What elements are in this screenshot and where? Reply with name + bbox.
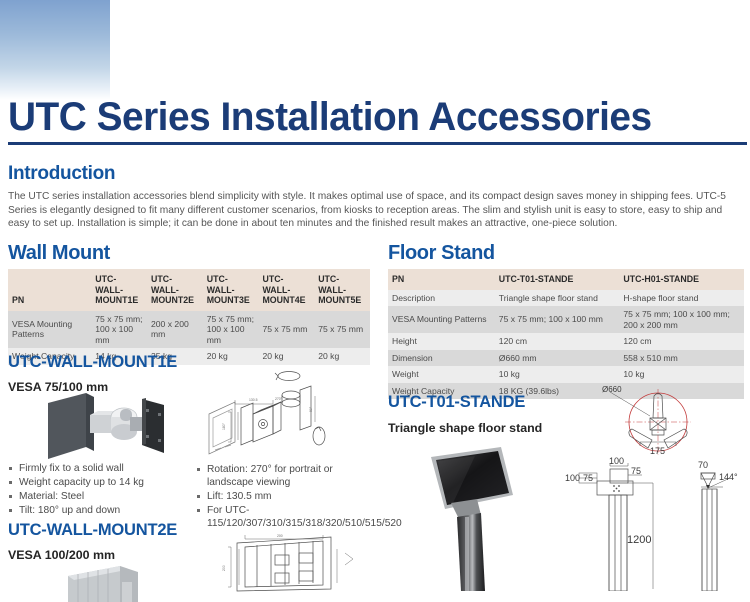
introduction-heading: Introduction bbox=[8, 163, 115, 185]
table-row: Dimension Ø660 mm 558 x 510 mm bbox=[388, 350, 744, 367]
table-cell: 75 x 75 mm; 100 x 100 mm; 200 x 200 mm bbox=[619, 306, 744, 333]
row-label: Dimension bbox=[388, 350, 495, 367]
table-header-cell: UTC-WALL-MOUNT2E bbox=[147, 269, 203, 311]
table-cell: Ø660 mm bbox=[495, 350, 620, 367]
table-header-row: PN UTC-WALL-MOUNT1E UTC-WALL-MOUNT2E UTC… bbox=[8, 269, 370, 311]
table-cell: 75 x 75 mm bbox=[314, 311, 370, 349]
wall-mount-table: PN UTC-WALL-MOUNT1E UTC-WALL-MOUNT2E UTC… bbox=[8, 269, 370, 365]
dimension-foot-width: 70 bbox=[698, 460, 708, 470]
table-cell: 10 kg bbox=[619, 366, 744, 383]
wall-mount-1e-bullets-left: Firmly fix to a solid wall Weight capaci… bbox=[8, 462, 183, 518]
list-item: Weight capacity up to 14 kg bbox=[8, 476, 183, 489]
floor-stand-section: Floor Stand PN UTC-T01-STANDE UTC-H01-ST… bbox=[388, 243, 744, 399]
product-photo-wall-mount-1e bbox=[42, 391, 170, 463]
technical-drawing-floor-stand-side-view: 100 75 100 75 1200 bbox=[565, 455, 685, 591]
table-cell: Triangle shape floor stand bbox=[495, 290, 620, 307]
svg-text:200: 200 bbox=[222, 565, 226, 571]
technical-drawing-wall-mount-2e: 200 200 bbox=[215, 533, 360, 593]
table-header-cell: UTC-H01-STANDE bbox=[619, 269, 744, 290]
table-cell: 558 x 510 mm bbox=[619, 350, 744, 367]
svg-text:200: 200 bbox=[277, 534, 283, 538]
list-item: Material: Steel bbox=[8, 490, 183, 503]
wall-mount-1e-bullets-right: Rotation: 270° for portrait or landscape… bbox=[196, 463, 376, 531]
product-heading-wall-mount-1e: UTC-WALL-MOUNT1E bbox=[8, 353, 177, 371]
row-label: VESA Mounting Patterns bbox=[8, 311, 91, 349]
list-item: Lift: 130.5 mm bbox=[196, 490, 376, 503]
table-row: Weight 10 kg 10 kg bbox=[388, 366, 744, 383]
wall-mount-heading: Wall Mount bbox=[8, 243, 370, 263]
dimension-top-a: 100 bbox=[609, 456, 624, 466]
floor-stand-heading: Floor Stand bbox=[388, 243, 744, 263]
table-cell: 120 cm bbox=[495, 333, 620, 350]
wall-mount-section: Wall Mount PN UTC-WALL-MOUNT1E UTC-WALL-… bbox=[8, 243, 370, 365]
technical-drawing-floor-stand-foot-detail: 70 144° bbox=[693, 455, 750, 591]
row-label: VESA Mounting Patterns bbox=[388, 306, 495, 333]
introduction-body: The UTC series installation accessories … bbox=[8, 190, 743, 231]
list-item: For UTC-115/120/307/310/315/318/320/510/… bbox=[196, 504, 376, 530]
list-item: Firmly fix to a solid wall bbox=[8, 462, 183, 475]
table-cell: 75 x 75 mm bbox=[258, 311, 314, 349]
table-cell: 75 x 75 mm; 100 x 100 mm bbox=[203, 311, 259, 349]
floor-stand-table: PN UTC-T01-STANDE UTC-H01-STANDE Descrip… bbox=[388, 269, 744, 399]
table-cell: 75 x 75 mm; 100 x 100 mm bbox=[495, 306, 620, 333]
product-subtitle-wall-mount-2e: VESA 100/200 mm bbox=[8, 548, 115, 562]
list-item: Rotation: 270° for portrait or landscape… bbox=[196, 463, 376, 489]
table-cell: 20 kg bbox=[314, 348, 370, 365]
row-label: Weight bbox=[388, 366, 495, 383]
table-header-cell: UTC-WALL-MOUNT3E bbox=[203, 269, 259, 311]
table-cell: 10 kg bbox=[495, 366, 620, 383]
dimension-side-a: 100 bbox=[565, 473, 580, 483]
page-title-block: UTC Series Installation Accessories bbox=[8, 96, 750, 145]
dimension-side-b: 75 bbox=[583, 473, 593, 483]
table-cell: 20 kg bbox=[258, 348, 314, 365]
product-heading-wall-mount-2e: UTC-WALL-MOUNT2E bbox=[8, 521, 177, 539]
table-cell: 20 kg bbox=[203, 348, 259, 365]
list-item: Tilt: 180° up and down bbox=[8, 504, 183, 517]
svg-text:270°: 270° bbox=[275, 397, 283, 401]
table-header-cell: PN bbox=[388, 269, 495, 290]
table-cell: H-shape floor stand bbox=[619, 290, 744, 307]
page-title: UTC Series Installation Accessories bbox=[8, 96, 728, 138]
table-cell: 200 x 200 mm bbox=[147, 311, 203, 349]
table-row: Height 120 cm 120 cm bbox=[388, 333, 744, 350]
table-header-cell: UTC-WALL-MOUNT5E bbox=[314, 269, 370, 311]
header-gradient-block bbox=[0, 0, 110, 100]
product-photo-wall-mount-2e bbox=[60, 562, 180, 602]
table-header-cell: UTC-WALL-MOUNT4E bbox=[258, 269, 314, 311]
product-photo-t01-stande bbox=[405, 443, 555, 591]
technical-drawing-floor-stand-top-view: Ø660 175 bbox=[600, 386, 710, 458]
table-cell: 120 cm bbox=[619, 333, 744, 350]
technical-drawing-wall-mount-1e: 130.5 270° 180° 90° bbox=[205, 368, 335, 460]
table-cell: 75 x 75 mm; 100 x 100 mm bbox=[91, 311, 147, 349]
table-header-cell: UTC-T01-STANDE bbox=[495, 269, 620, 290]
dimension-diameter: Ø660 bbox=[602, 386, 622, 394]
dimension-height: 1200 bbox=[627, 534, 651, 546]
table-header-row: PN UTC-T01-STANDE UTC-H01-STANDE bbox=[388, 269, 744, 290]
svg-text:180°: 180° bbox=[222, 422, 226, 430]
table-row: Description Triangle shape floor stand H… bbox=[388, 290, 744, 307]
title-divider bbox=[8, 142, 747, 145]
product-subtitle-t01-stande: Triangle shape floor stand bbox=[388, 421, 542, 435]
svg-text:130.5: 130.5 bbox=[249, 398, 258, 402]
product-heading-t01-stande: UTC-T01-STANDE bbox=[388, 393, 525, 411]
row-label: Description bbox=[388, 290, 495, 307]
dimension-foot-angle: 144° bbox=[719, 472, 738, 482]
table-header-cell: UTC-WALL-MOUNT1E bbox=[91, 269, 147, 311]
dimension-top-b: 75 bbox=[631, 466, 641, 476]
table-row: VESA Mounting Patterns 75 x 75 mm; 100 x… bbox=[388, 306, 744, 333]
row-label: Height bbox=[388, 333, 495, 350]
table-row: VESA Mounting Patterns 75 x 75 mm; 100 x… bbox=[8, 311, 370, 349]
svg-text:90°: 90° bbox=[309, 406, 313, 412]
table-header-cell: PN bbox=[8, 269, 91, 311]
